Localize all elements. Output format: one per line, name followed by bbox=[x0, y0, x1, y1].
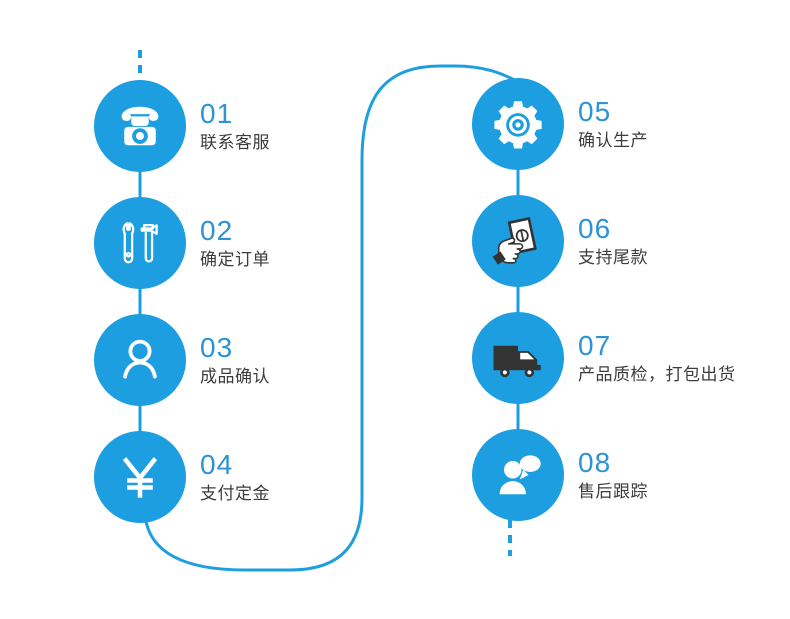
step-number-05: 05 bbox=[578, 98, 648, 126]
step-text-05: 05 确认生产 bbox=[578, 98, 648, 150]
hand-cash-icon bbox=[490, 213, 546, 269]
step-number-08: 08 bbox=[578, 449, 648, 477]
step-label-07: 产品质检，打包出货 bbox=[578, 367, 736, 384]
person-icon bbox=[112, 332, 168, 388]
process-flow-diagram: 01 联系客服 02 确定订单 bbox=[0, 0, 790, 619]
step-number-04: 04 bbox=[200, 451, 270, 479]
step-circle-02[interactable] bbox=[94, 197, 186, 289]
step-label-04: 支付定金 bbox=[200, 486, 270, 503]
step-number-01: 01 bbox=[200, 100, 270, 128]
step-node-04[interactable]: 04 支付定金 bbox=[94, 431, 270, 523]
step-label-05: 确认生产 bbox=[578, 133, 648, 150]
step-circle-06[interactable] bbox=[472, 195, 564, 287]
step-label-01: 联系客服 bbox=[200, 135, 270, 152]
step-number-07: 07 bbox=[578, 332, 736, 360]
step-text-04: 04 支付定金 bbox=[200, 451, 270, 503]
step-text-08: 08 售后跟踪 bbox=[578, 449, 648, 501]
step-circle-08[interactable] bbox=[472, 429, 564, 521]
step-circle-05[interactable] bbox=[472, 78, 564, 170]
step-text-06: 06 支持尾款 bbox=[578, 215, 648, 267]
step-node-03[interactable]: 03 成品确认 bbox=[94, 314, 270, 406]
step-node-07[interactable]: 07 产品质检，打包出货 bbox=[472, 312, 736, 404]
step-node-05[interactable]: 05 确认生产 bbox=[472, 78, 648, 170]
step-node-08[interactable]: 08 售后跟踪 bbox=[472, 429, 648, 521]
yen-currency-icon bbox=[112, 449, 168, 505]
step-text-01: 01 联系客服 bbox=[200, 100, 270, 152]
step-node-01[interactable]: 01 联系客服 bbox=[94, 80, 270, 172]
step-circle-01[interactable] bbox=[94, 80, 186, 172]
customer-support-icon bbox=[490, 447, 546, 503]
step-text-03: 03 成品确认 bbox=[200, 334, 270, 386]
step-circle-03[interactable] bbox=[94, 314, 186, 406]
wrench-hammer-icon bbox=[112, 215, 168, 271]
step-text-07: 07 产品质检，打包出货 bbox=[578, 332, 736, 384]
step-label-06: 支持尾款 bbox=[578, 250, 648, 267]
step-label-02: 确定订单 bbox=[200, 252, 270, 269]
gear-icon bbox=[490, 96, 546, 152]
telephone-icon bbox=[112, 98, 168, 154]
step-text-02: 02 确定订单 bbox=[200, 217, 270, 269]
step-circle-07[interactable] bbox=[472, 312, 564, 404]
step-label-08: 售后跟踪 bbox=[578, 484, 648, 501]
delivery-truck-icon bbox=[490, 330, 546, 386]
step-number-03: 03 bbox=[200, 334, 270, 362]
step-node-02[interactable]: 02 确定订单 bbox=[94, 197, 270, 289]
step-number-02: 02 bbox=[200, 217, 270, 245]
step-label-03: 成品确认 bbox=[200, 369, 270, 386]
step-node-06[interactable]: 06 支持尾款 bbox=[472, 195, 648, 287]
step-number-06: 06 bbox=[578, 215, 648, 243]
step-circle-04[interactable] bbox=[94, 431, 186, 523]
